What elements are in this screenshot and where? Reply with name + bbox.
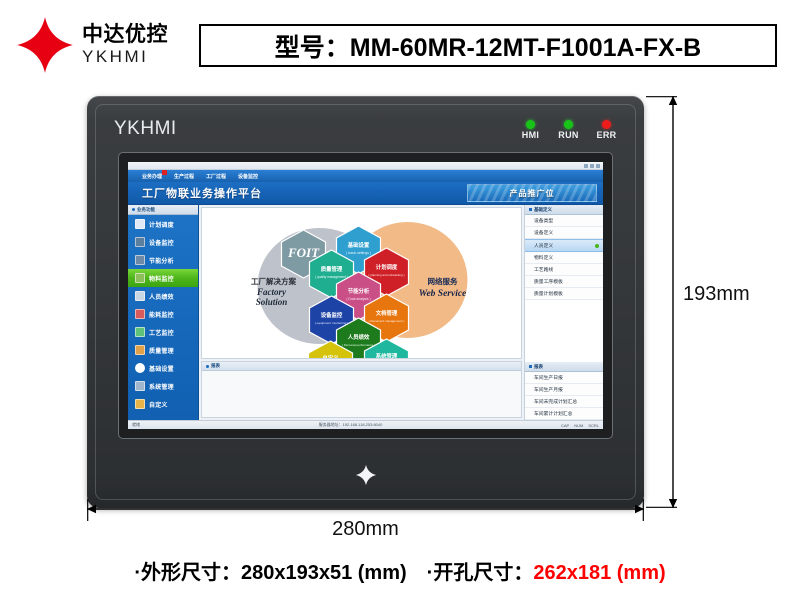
cutout-dimension-value: 262x181 (mm) bbox=[533, 562, 665, 584]
right-item-label: 设备类型 bbox=[534, 217, 553, 224]
height-dimension-label: 193mm bbox=[683, 283, 750, 306]
panel-dot-icon bbox=[206, 365, 209, 368]
width-dimension-label: 280mm bbox=[0, 518, 731, 541]
gauge-icon bbox=[135, 309, 145, 319]
led-run-label: RUN bbox=[558, 131, 578, 140]
right-panel-gap bbox=[525, 300, 603, 362]
selected-marker-icon bbox=[595, 244, 599, 248]
promo-banner-label: 产品推广位 bbox=[510, 188, 555, 199]
right-panel: 基础定义 设备类型 设备定义 人员定义 物料定义 bbox=[524, 205, 603, 420]
sidebar-label-system: 系统管理 bbox=[149, 382, 174, 391]
report-panel: 报表 bbox=[201, 361, 522, 418]
sidebar-label-energy-analysis: 节能分析 bbox=[149, 256, 174, 265]
right-item-label: 物料定义 bbox=[534, 254, 553, 261]
right-item-label: 质量工序模板 bbox=[534, 278, 563, 285]
hmi-screen[interactable]: 业务办理 生产过程 工厂过程 设备监控 工厂物联业务操作平台 产品推广位 业务功… bbox=[128, 162, 603, 429]
height-dimension-line bbox=[672, 96, 674, 508]
right-item-label: 工艺路线 bbox=[534, 266, 553, 273]
solution-diagram-canvas: FOIT 基础设置 ( basic settings ) 质量管理 ( qual… bbox=[201, 207, 522, 359]
svg-text:Factory: Factory bbox=[256, 287, 287, 297]
right-item-unfinished-plan-report[interactable]: 车间未完成计划汇总 bbox=[525, 396, 603, 408]
sidebar-item-custom[interactable]: 自定义 bbox=[128, 395, 198, 413]
clipboard-icon bbox=[135, 345, 145, 355]
system-icon bbox=[135, 381, 145, 391]
sidebar-label-quality: 质量管理 bbox=[149, 346, 174, 355]
close-icon[interactable] bbox=[596, 164, 600, 168]
svg-text:Solution: Solution bbox=[256, 297, 288, 307]
app-title: 工厂物联业务操作平台 bbox=[142, 185, 262, 201]
sidebar-label-energy: 能耗监控 bbox=[149, 310, 174, 319]
tab-business[interactable]: 业务办理 bbox=[142, 173, 162, 180]
right-item-personnel-def[interactable]: 人员定义 bbox=[525, 239, 603, 252]
brand-name-en: YKHMI bbox=[82, 48, 168, 66]
maximize-icon[interactable] bbox=[590, 164, 594, 168]
right-item-process-route[interactable]: 工艺路线 bbox=[525, 264, 603, 276]
brand-text: 中达优控 YKHMI bbox=[82, 24, 168, 66]
right-section-report-title: 报表 bbox=[534, 364, 543, 370]
sidebar-item-energy-analysis[interactable]: 节能分析 bbox=[128, 251, 198, 269]
led-hmi-dot-icon bbox=[526, 120, 535, 129]
svg-text:基础设置: 基础设置 bbox=[347, 241, 370, 249]
sidebar-item-equipment[interactable]: 设备监控 bbox=[128, 233, 198, 251]
right-item-quality-plan-template[interactable]: 质量计划模板 bbox=[525, 288, 603, 300]
svg-text:网络服务: 网络服务 bbox=[428, 276, 458, 286]
center-column: FOIT 基础设置 ( basic settings ) 质量管理 ( qual… bbox=[199, 205, 524, 420]
svg-text:节能分析: 节能分析 bbox=[348, 287, 370, 295]
right-item-label: 车间未完成计划汇总 bbox=[534, 398, 577, 405]
sidebar-label-equipment: 设备监控 bbox=[149, 238, 174, 247]
sidebar-nav: 业务功能 计划调度 设备监控 节能分析 bbox=[128, 205, 199, 420]
promo-banner[interactable]: 产品推广位 bbox=[467, 184, 597, 202]
led-run-dot-icon bbox=[564, 120, 573, 129]
brand-name-cn: 中达优控 bbox=[82, 24, 168, 46]
right-item-label: 质量计划模板 bbox=[534, 290, 563, 297]
statusbar-cap: CAP bbox=[561, 423, 569, 428]
width-dimension-line bbox=[87, 508, 644, 510]
report-panel-header: 报表 bbox=[202, 362, 521, 371]
right-item-label: 人员定义 bbox=[534, 242, 553, 249]
model-title-box: 型号：MM-60MR-12MT-F1001A-FX-B bbox=[199, 24, 777, 67]
brand-block: 中达优控 YKHMI bbox=[16, 14, 196, 76]
right-item-monthly-report[interactable]: 车间生产月报 bbox=[525, 384, 603, 396]
page-title: 型号：MM-60MR-12MT-F1001A-FX-B bbox=[275, 28, 701, 64]
sidebar-label-planning: 计划调度 bbox=[149, 220, 174, 229]
right-item-quality-process-template[interactable]: 质量工序模板 bbox=[525, 276, 603, 288]
tab-factory[interactable]: 工厂过程 bbox=[206, 173, 226, 180]
bezel-four-point-star-icon bbox=[355, 464, 377, 486]
sidebar-item-quality[interactable]: 质量管理 bbox=[128, 341, 198, 359]
tab-equipment[interactable]: 设备监控 bbox=[238, 173, 258, 180]
svg-text:( Dual analysis ): ( Dual analysis ) bbox=[346, 297, 370, 301]
spec-caption: ·外形尺寸：280x193x51 (mm) ·开孔尺寸：262x181 (mm) bbox=[0, 556, 800, 585]
sidebar-label-personnel: 人员绩效 bbox=[149, 292, 174, 301]
sidebar-item-basic-settings[interactable]: 基础设置 bbox=[128, 359, 198, 377]
report-panel-title: 报表 bbox=[211, 363, 220, 369]
led-err-label: ERR bbox=[597, 131, 617, 140]
chart-icon bbox=[135, 255, 145, 265]
led-err-dot-icon bbox=[602, 120, 611, 129]
cutout-dimension-prefix: ·开孔尺寸： bbox=[427, 562, 534, 584]
caption-dot-icon bbox=[132, 208, 135, 211]
sidebar-label-custom: 自定义 bbox=[149, 400, 168, 409]
svg-text:质量管理: 质量管理 bbox=[321, 265, 343, 273]
sidebar-label-basic-settings: 基础设置 bbox=[149, 364, 174, 373]
right-section-basic-title: 基础定义 bbox=[534, 207, 552, 213]
svg-text:文档管理: 文档管理 bbox=[376, 309, 398, 317]
right-item-daily-report[interactable]: 车间生产日报 bbox=[525, 372, 603, 384]
people-icon bbox=[135, 291, 145, 301]
screen-well: 业务办理 生产过程 工厂过程 设备监控 工厂物联业务操作平台 产品推广位 业务功… bbox=[118, 152, 613, 439]
sidebar-item-energy[interactable]: 能耗监控 bbox=[128, 305, 198, 323]
right-item-device-type[interactable]: 设备类型 bbox=[525, 215, 603, 227]
sidebar-spacer bbox=[128, 413, 198, 420]
svg-text:( planning and scheduling ): ( planning and scheduling ) bbox=[368, 273, 404, 277]
statusbar-center: 服务器地址：192.168.118.253:8040 bbox=[319, 422, 383, 428]
four-point-star-icon bbox=[16, 16, 74, 74]
report-panel-body[interactable] bbox=[202, 371, 521, 417]
tab-production[interactable]: 生产过程 bbox=[174, 173, 194, 180]
right-item-label: 车间生产日报 bbox=[534, 374, 563, 381]
svg-text:Web Service: Web Service bbox=[419, 289, 467, 299]
device-bezel-brand: YKHMI bbox=[114, 118, 177, 140]
app-titlebar bbox=[128, 162, 603, 170]
right-section-report-header: 报表 bbox=[525, 362, 603, 372]
process-icon bbox=[135, 327, 145, 337]
app-tabbar: 业务办理 生产过程 工厂过程 设备监控 bbox=[128, 170, 603, 182]
svg-text:( equipment monitoring ): ( equipment monitoring ) bbox=[315, 321, 349, 325]
section-dot-icon bbox=[529, 208, 532, 211]
svg-text:( quality management ): ( quality management ) bbox=[315, 275, 348, 279]
box-icon bbox=[135, 273, 145, 283]
calendar-icon bbox=[135, 219, 145, 229]
sidebar-caption: 业务功能 bbox=[128, 205, 198, 215]
outline-dimension-text: ·外形尺寸：280x193x51 (mm) bbox=[134, 556, 406, 585]
sidebar-item-system[interactable]: 系统管理 bbox=[128, 377, 198, 395]
sidebar-item-planning[interactable]: 计划调度 bbox=[128, 215, 198, 233]
cutout-dimension-text: ·开孔尺寸：262x181 (mm) bbox=[427, 556, 666, 585]
gear-icon bbox=[135, 363, 145, 373]
right-item-device-def[interactable]: 设备定义 bbox=[525, 227, 603, 239]
minimize-icon[interactable] bbox=[584, 164, 588, 168]
svg-text:FOIT: FOIT bbox=[287, 245, 320, 260]
right-item-label: 设备定义 bbox=[534, 229, 553, 236]
statusbar-num: NUM bbox=[574, 423, 583, 428]
device-front-view: YKHMI HMI RUN ERR 业务办理 生产过程 工厂过程 bbox=[87, 96, 644, 508]
right-item-label: 车间生产月报 bbox=[534, 386, 563, 393]
person-icon bbox=[135, 399, 145, 409]
svg-text:( Document management ): ( Document management ) bbox=[369, 319, 405, 323]
right-section-basic-header: 基础定义 bbox=[525, 205, 603, 215]
statusbar: 就绪 服务器地址：192.168.118.253:8040 CAP NUM SC… bbox=[128, 420, 603, 429]
led-hmi-label: HMI bbox=[522, 131, 539, 140]
svg-text:( basic settings ): ( basic settings ) bbox=[346, 251, 371, 255]
app-header: 工厂物联业务操作平台 产品推广位 bbox=[128, 182, 603, 205]
right-item-cumulative-plan-report[interactable]: 车间累计计划汇总 bbox=[525, 408, 603, 420]
right-item-material-def[interactable]: 物料定义 bbox=[525, 252, 603, 264]
sidebar-caption-label: 业务功能 bbox=[137, 207, 155, 213]
right-item-label: 车间累计计划汇总 bbox=[534, 410, 572, 417]
led-err: ERR bbox=[593, 120, 620, 140]
sidebar-label-material: 物料监控 bbox=[149, 274, 174, 283]
monitor-icon bbox=[135, 237, 145, 247]
svg-text:计划调度: 计划调度 bbox=[376, 263, 398, 271]
statusbar-right: CAP NUM SCRL bbox=[561, 423, 599, 428]
hexagon-solution-diagram: FOIT 基础设置 ( basic settings ) 质量管理 ( qual… bbox=[202, 208, 521, 358]
led-indicator-group: HMI RUN ERR bbox=[517, 120, 620, 140]
led-hmi: HMI bbox=[517, 120, 544, 140]
section-dot-icon bbox=[529, 365, 532, 368]
svg-text:设备监控: 设备监控 bbox=[321, 311, 343, 319]
svg-text:人员绩效: 人员绩效 bbox=[348, 333, 370, 341]
led-run: RUN bbox=[555, 120, 582, 140]
svg-text:( Personal performance ): ( Personal performance ) bbox=[342, 343, 375, 347]
sidebar-item-process[interactable]: 工艺监控 bbox=[128, 323, 198, 341]
statusbar-scrl: SCRL bbox=[588, 423, 599, 428]
sidebar-item-personnel[interactable]: 人员绩效 bbox=[128, 287, 198, 305]
sidebar-label-process: 工艺监控 bbox=[149, 328, 174, 337]
statusbar-left: 就绪 bbox=[132, 422, 140, 428]
svg-text:工厂解决方案: 工厂解决方案 bbox=[251, 276, 296, 286]
sidebar-item-material[interactable]: 物料监控 bbox=[128, 269, 198, 287]
app-body: 业务功能 计划调度 设备监控 节能分析 bbox=[128, 205, 603, 420]
